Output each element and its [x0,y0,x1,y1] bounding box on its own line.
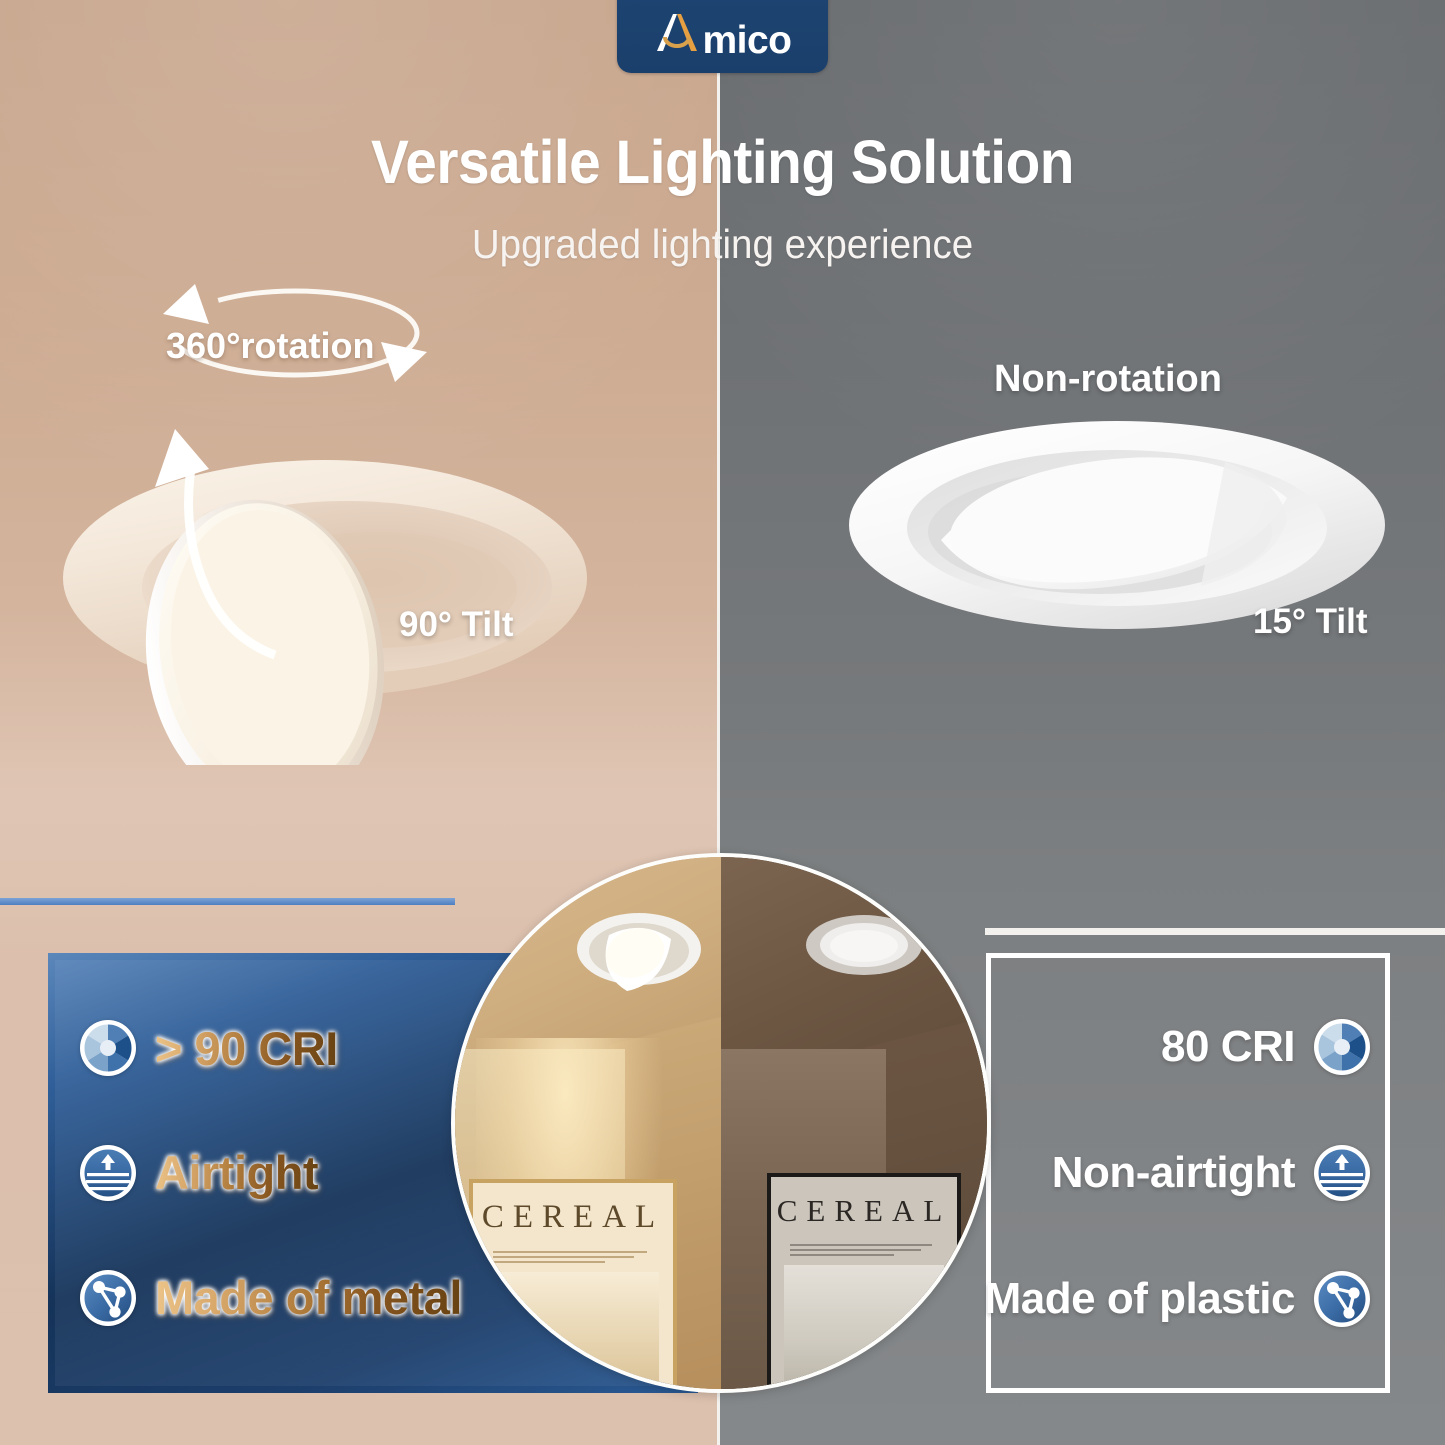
right-baseboard-accent-line [985,928,1445,935]
gimbal-downlight-tilted-illustration [55,395,615,765]
warm-room-photo: CEREAL [455,857,721,1389]
fixed-downlight-installed-icon [803,909,925,981]
feature-label-cri-right: 80 CRI [1161,1022,1295,1072]
feature-label-material-left: Made of metal [155,1270,462,1325]
tilt-label-right: 15° Tilt [1253,602,1368,642]
metal-molecule-icon [79,1269,137,1327]
airtight-icon [79,1144,137,1202]
feature-label-airtight-left: Airtight [155,1145,318,1200]
logo-letter-a-icon [653,10,701,53]
dim-room-photo: CEREAL [721,857,987,1389]
feature-label-cri-left: > 90 CRI [155,1021,338,1076]
wall-poster-left: CEREAL [469,1179,677,1389]
poster-title-left: CEREAL [482,1199,664,1236]
metal-molecule-icon [1313,1270,1371,1328]
rotation-label-left: 360°rotation [166,325,374,367]
tilt-label-left: 90° Tilt [399,605,514,645]
room-comparison-photo-inset: CEREAL [451,853,991,1393]
page-title: Versatile Lighting Solution [51,127,1395,197]
feature-row-airtight-right: Non-airtight [991,1144,1385,1202]
logo-wordmark: mico [702,21,791,60]
left-baseboard-accent-line [0,898,455,905]
product-comparison-graphic: mico Versatile Lighting Solution Upgrade… [0,0,1445,1445]
feature-label-airtight-right: Non-airtight [1052,1148,1295,1198]
amico-logo-badge: mico [617,0,828,73]
right-feature-box: 80 CRI [986,953,1390,1393]
feature-row-cri-right: 80 CRI [991,1018,1385,1076]
aperture-icon [1313,1018,1371,1076]
feature-label-material-right: Made of plastic [985,1274,1295,1324]
gimbal-downlight-installed-icon [573,903,703,999]
airtight-icon [1313,1144,1371,1202]
page-subtitle: Upgraded lighting experience [43,221,1401,268]
feature-row-material-right: Made of plastic [991,1270,1385,1328]
wall-poster-right: CEREAL [767,1173,961,1389]
poster-title-right: CEREAL [777,1193,952,1229]
aperture-icon [79,1019,137,1077]
rotation-label-right: Non-rotation [994,358,1222,401]
